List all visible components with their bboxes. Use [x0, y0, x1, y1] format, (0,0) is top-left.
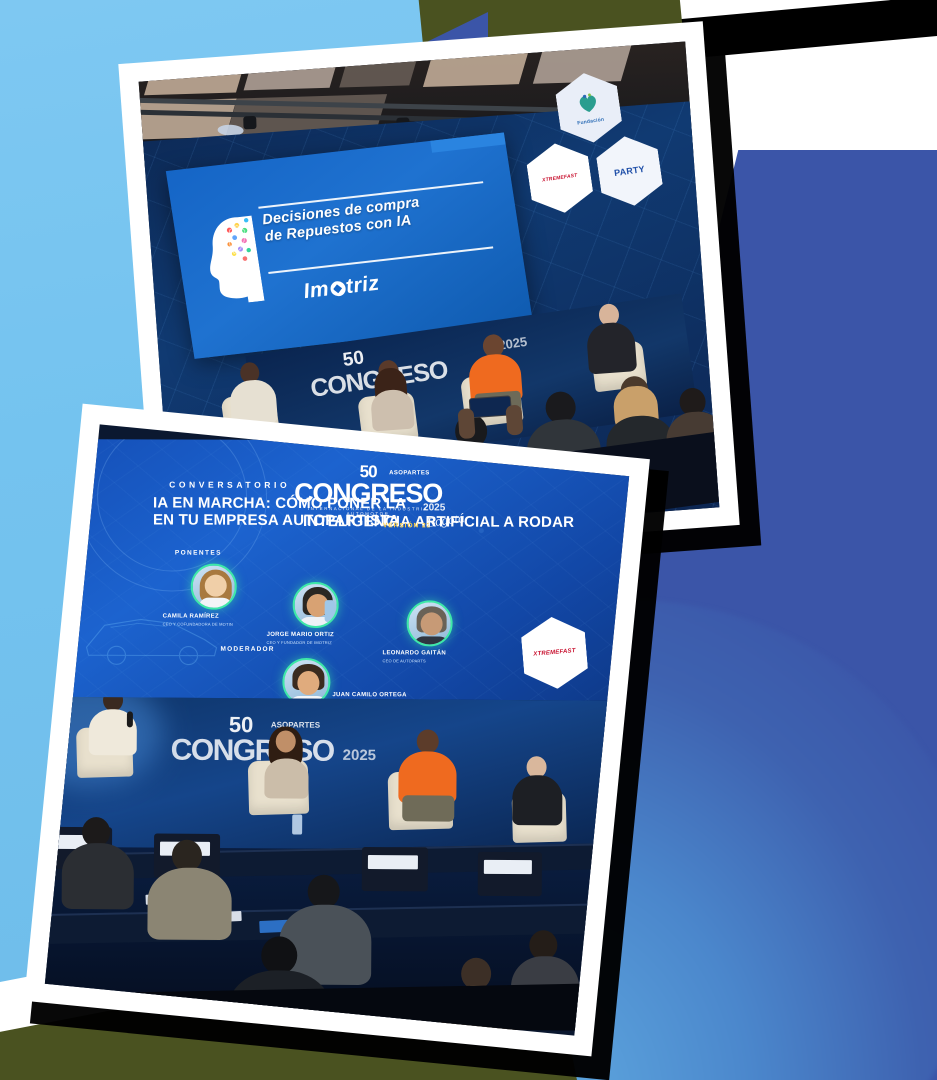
moderator-name: JUAN CAMILO ORTEGA: [332, 692, 406, 698]
speaker-avatar-jorge: [293, 582, 339, 628]
speaker-name-camila: CAMILA RAMÍREZ: [163, 613, 219, 619]
avatar: [407, 600, 453, 646]
speaker-name-jorge: JORGE MARIO ORTIZ: [267, 632, 334, 638]
photo-conversatorio-banner[interactable]: CONVERSATORIO IA EN MARCHA: CÓMO PONER L…: [24, 404, 650, 1057]
banner-asopartes-label: ASOPARTES: [389, 470, 430, 476]
speaker-role-camila: CEO Y COFUNDADORA DE MOTIN: [163, 621, 233, 626]
ai-head-profile-icon: [196, 206, 264, 307]
photo-conversatorio-image: CONVERSATORIO IA EN MARCHA: CÓMO PONER L…: [45, 424, 629, 1035]
speaker-avatar-camila: [191, 564, 237, 610]
hand: [457, 408, 475, 439]
logo-sub: INTERNACIONAL DE LA INDUSTRIA AUTOMOTOR: [293, 506, 443, 517]
collage-canvas: Decisiones de compra de Repuestos con IA…: [0, 0, 937, 1080]
sponsor-hex-xtremefast-2-label: XTREMEFAST: [533, 648, 576, 658]
fundacion-logo-icon: [574, 90, 603, 115]
banner-ponentes-label: PONENTES: [175, 550, 222, 557]
hand: [505, 405, 523, 436]
stage2-year: 2025: [343, 747, 376, 764]
microphone-icon: [127, 711, 133, 727]
panel-stage-scene: 50 CONGRESO ASOPARTES 2025: [45, 697, 615, 1031]
slide-title: Decisiones de compra de Repuestos con IA: [261, 186, 495, 246]
speaker-role-jorge: CEO Y FUNDADOR DE IMOTRIZ: [267, 640, 332, 645]
banner-version-tag: VERSIÓN 22: [383, 522, 431, 529]
sponsor-hex-xtremefast-label: XTREMEFAST: [542, 173, 578, 184]
speaker-name-leonardo: LEONARDO GAITÁN: [383, 650, 447, 656]
chair-placard: [484, 860, 532, 874]
avatar: [191, 564, 237, 610]
banner-moderador-label: MODERADOR: [221, 646, 275, 653]
logo-congreso: CONGRESO: [293, 482, 443, 506]
brand-gem-icon: [329, 281, 346, 298]
speaker-role-leonardo: CEO DE AUTOPARTS: [382, 658, 425, 663]
sponsor-hex-fundacion-label: Fundación: [577, 116, 605, 126]
chair-placard: [368, 855, 418, 869]
water-bottle: [292, 815, 302, 835]
speaker-avatar-leonardo: [407, 600, 453, 646]
conversatorio-banner: CONVERSATORIO IA EN MARCHA: CÓMO PONER L…: [70, 439, 629, 741]
sponsor-hex-party-label: PARTY: [614, 164, 646, 178]
avatar: [293, 582, 339, 628]
banner-eyebrow: CONVERSATORIO: [169, 480, 290, 490]
